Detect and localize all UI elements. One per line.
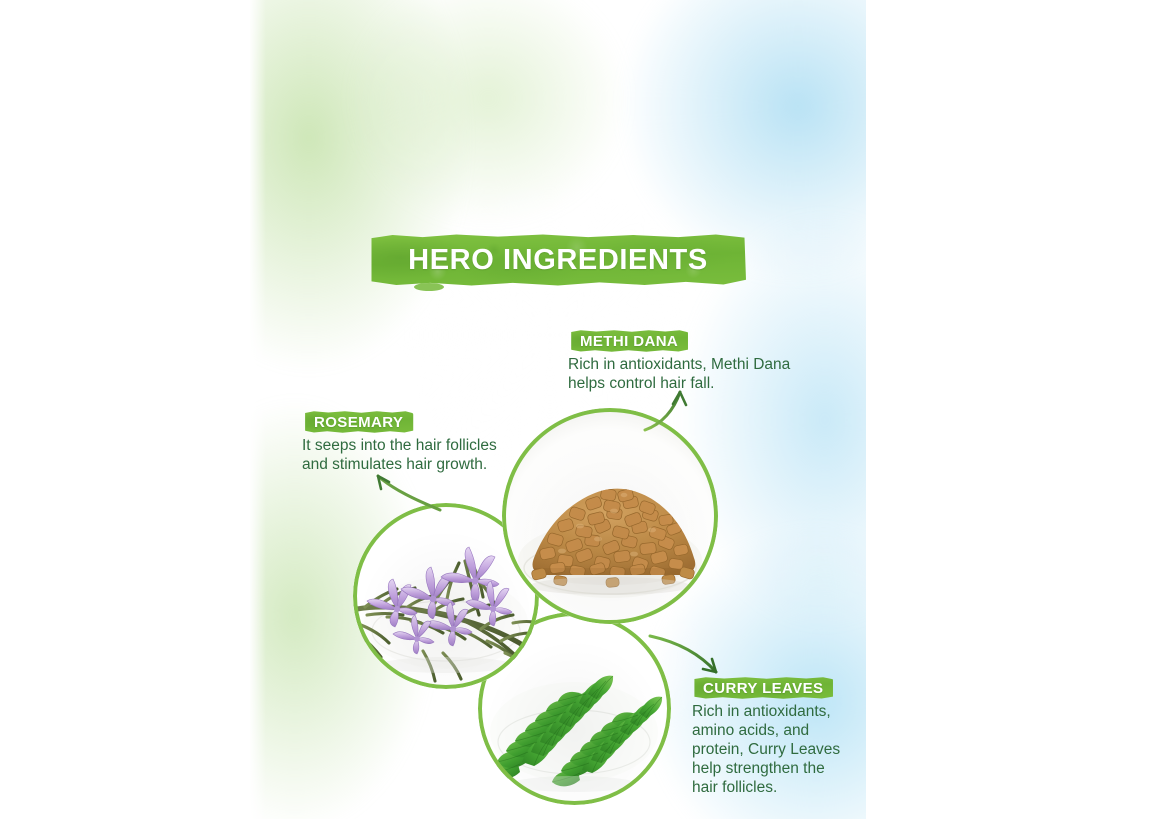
fenugreek-seeds-photo	[502, 408, 718, 624]
ingredient-label-methi-dana: METHI DANA	[570, 330, 689, 352]
poster-canvas: HERO INGREDIENTS	[0, 0, 1152, 819]
ingredient-label-curry-leaves: CURRY LEAVES	[693, 677, 834, 699]
ingredient-description-curry-leaves: Rich in antioxidants, amino acids, and p…	[692, 703, 866, 798]
ingredient-photo-methi-dana	[502, 408, 718, 624]
poster-content-panel: HERO INGREDIENTS	[250, 0, 866, 819]
page-title: HERO INGREDIENTS	[370, 234, 746, 286]
hero-ingredients-title-badge: HERO INGREDIENTS	[370, 234, 746, 286]
ingredient-description-methi-dana: Rich in antioxidants, Methi Dana helps c…	[568, 356, 834, 394]
ingredient-label-rosemary: ROSEMARY	[304, 411, 414, 433]
watercolor-wash-blue-top-right	[550, 0, 866, 350]
panel-left-edge-fade	[250, 0, 266, 819]
